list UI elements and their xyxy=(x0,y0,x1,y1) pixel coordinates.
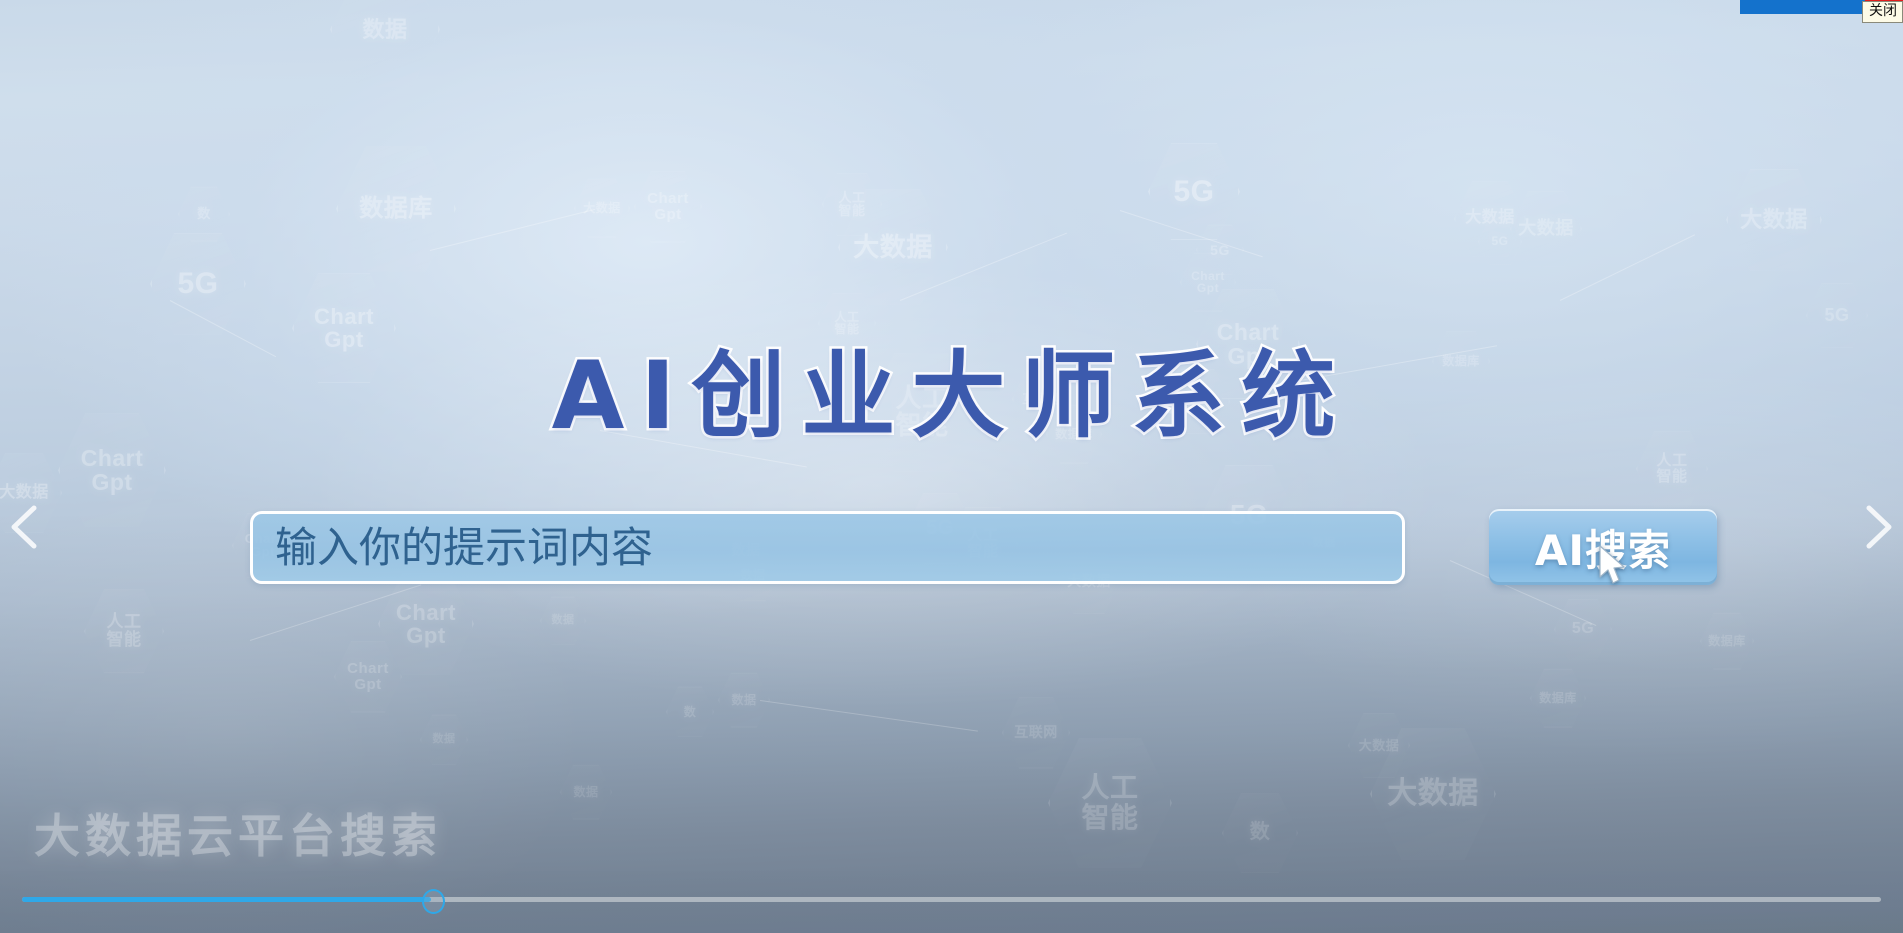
close-tooltip: 关闭 xyxy=(1862,1,1903,23)
video-progress-track[interactable] xyxy=(22,897,1881,902)
app-stage: 数据数据库数5GChart GptChart Gpt大数据Chart Gpt人工… xyxy=(0,0,1903,933)
ai-search-button[interactable]: AI搜索 xyxy=(1489,509,1717,585)
chrome-titlebar-segment xyxy=(1740,0,1865,14)
carousel-prev-button[interactable] xyxy=(2,500,48,554)
chevron-right-icon xyxy=(1855,500,1901,554)
carousel-next-button[interactable] xyxy=(1855,500,1901,554)
search-row: AI搜索 xyxy=(250,507,1730,587)
background-gradient xyxy=(0,0,1903,933)
chevron-left-icon xyxy=(2,500,48,554)
search-input[interactable] xyxy=(250,511,1405,584)
video-progress-fill xyxy=(22,897,431,902)
video-player-bar xyxy=(0,871,1903,933)
video-progress-handle[interactable] xyxy=(422,889,445,914)
